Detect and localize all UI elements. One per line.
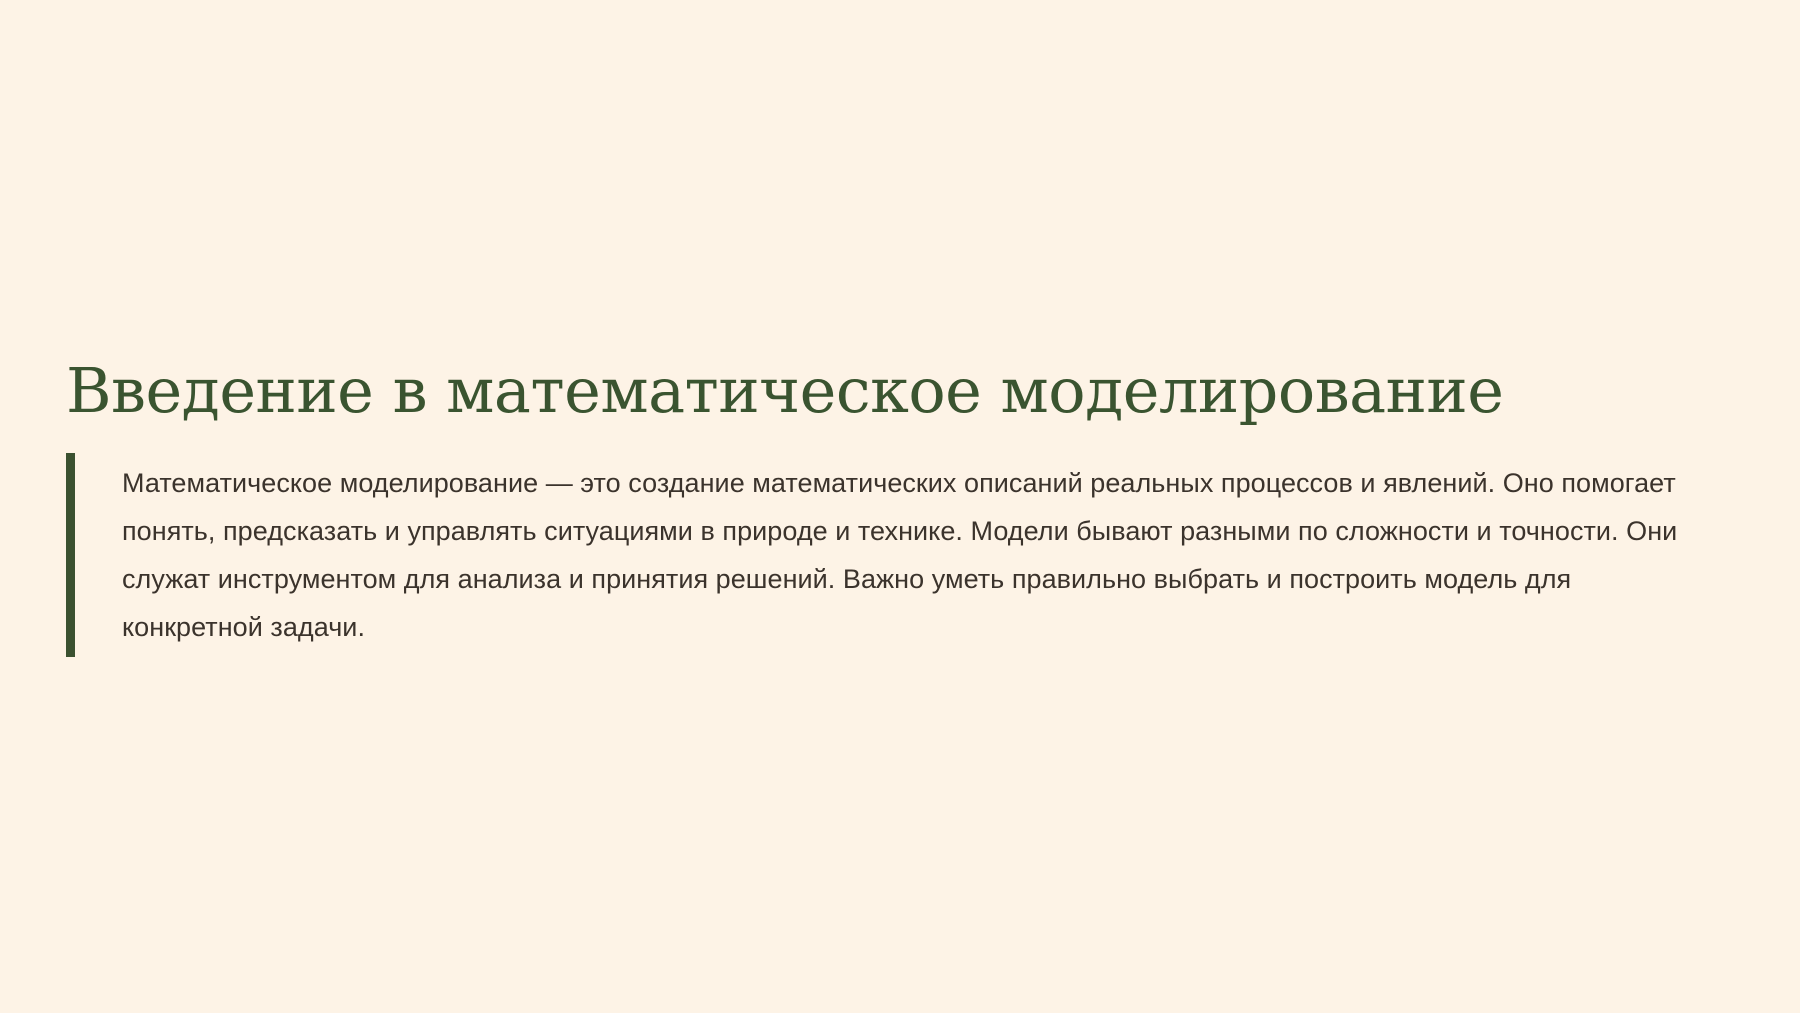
content-container: Введение в математическое моделирование … [66, 0, 1734, 1013]
body-paragraph: Математическое моделирование — это созда… [122, 459, 1702, 651]
page-title: Введение в математическое моделирование [66, 356, 1503, 425]
slide-canvas: Введение в математическое моделирование … [0, 0, 1800, 1013]
body-callout-block: Математическое моделирование — это созда… [66, 453, 1702, 657]
